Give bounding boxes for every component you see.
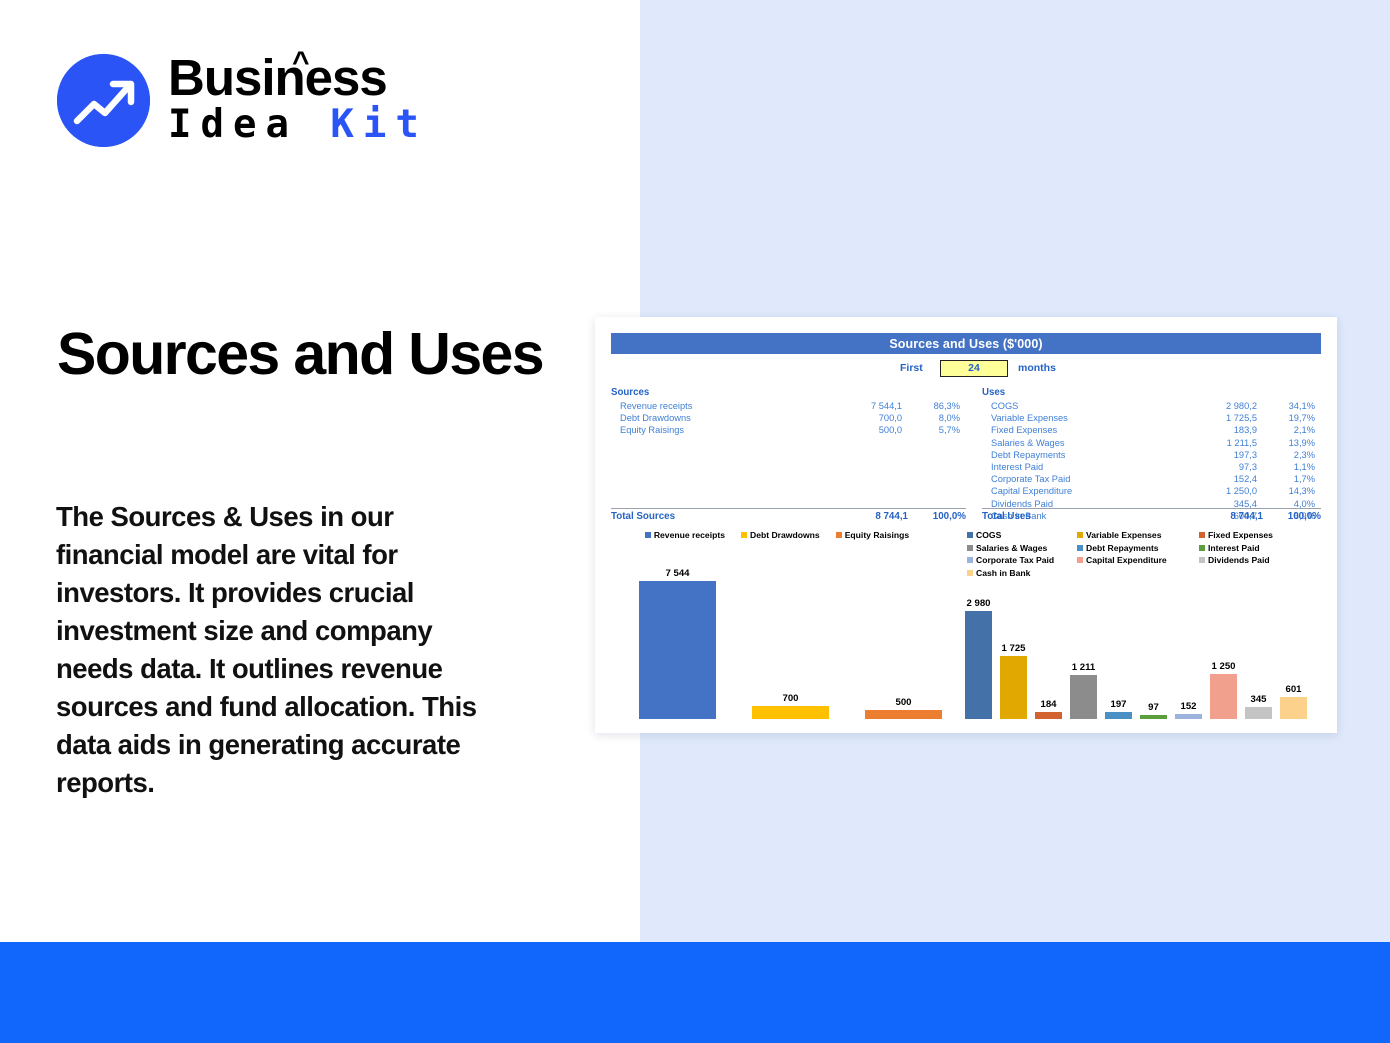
total-label: Total Uses — [982, 511, 1191, 522]
bar — [1210, 674, 1237, 719]
bar — [1105, 712, 1132, 719]
table-row: Debt Repayments 197,3 2,3% — [982, 449, 1315, 461]
uses-total-row: Total Uses 8 744,1 100,0% — [982, 508, 1321, 522]
total-percent: 100,0% — [1263, 511, 1321, 522]
bar-column: 700 — [752, 567, 829, 719]
bar-column: 1 211 — [1070, 567, 1097, 719]
months-input[interactable]: 24 — [940, 360, 1008, 377]
table-row: Fixed Expenses 183,9 2,1% — [982, 424, 1315, 436]
bar-value-label: 700 — [782, 693, 798, 704]
legend-swatch-icon — [1199, 557, 1205, 563]
growth-arrow-icon — [57, 54, 150, 147]
row-percent: 2,1% — [1257, 424, 1315, 436]
table-row: Variable Expenses 1 725,5 19,7% — [982, 412, 1315, 424]
table-row: Capital Expenditure 1 250,0 14,3% — [982, 485, 1315, 497]
legend-label: Revenue receipts — [654, 530, 725, 540]
row-percent: 8,0% — [902, 412, 960, 424]
brand-kit-text: Kit — [330, 102, 427, 147]
legend-label: Interest Paid — [1208, 543, 1260, 553]
row-amount: 197,3 — [1185, 449, 1257, 461]
legend-label: Capital Expenditure — [1086, 555, 1167, 565]
bar-column: 184 — [1035, 567, 1062, 719]
table-row: Interest Paid 97,3 1,1% — [982, 461, 1315, 473]
bar-value-label: 97 — [1148, 702, 1159, 713]
legend-swatch-icon — [1199, 545, 1205, 551]
row-amount: 2 980,2 — [1185, 400, 1257, 412]
table-row: Revenue receipts 7 544,1 86,3% — [611, 400, 960, 412]
bar — [752, 706, 829, 719]
row-amount: 1 250,0 — [1185, 485, 1257, 497]
legend-label: COGS — [976, 530, 1001, 540]
charts-area: Revenue receiptsDebt DrawdownsEquity Rai… — [611, 529, 1321, 719]
legend-swatch-icon — [1077, 545, 1083, 551]
uses-bar-chart: COGSVariable ExpensesFixed ExpensesSalar… — [959, 529, 1321, 719]
legend-swatch-icon — [967, 557, 973, 563]
bar-column: 601 — [1280, 567, 1307, 719]
brand-name-text: Business — [168, 49, 387, 106]
brand-logo: Business ^ Idea Kit — [57, 53, 428, 148]
row-amount: 500,0 — [830, 424, 902, 436]
row-amount: 1 211,5 — [1185, 437, 1257, 449]
legend-label: Corporate Tax Paid — [976, 555, 1054, 565]
legend-item: Revenue receipts — [645, 530, 725, 540]
total-amount: 8 744,1 — [836, 511, 908, 522]
bar-column: 197 — [1105, 567, 1132, 719]
bar-value-label: 184 — [1040, 699, 1056, 710]
row-label: Salaries & Wages — [982, 437, 1185, 449]
uses-table-header: Uses — [982, 387, 1315, 398]
brand-idea-text: Idea — [168, 102, 330, 147]
bar — [865, 710, 942, 719]
bar-value-label: 1 725 — [1001, 643, 1025, 654]
legend-item: Capital Expenditure — [1077, 555, 1199, 565]
slide-root: Business ^ Idea Kit Sources and Uses The… — [0, 0, 1390, 1043]
row-label: Equity Raisings — [611, 424, 830, 436]
period-suffix-label: months — [1018, 362, 1056, 374]
row-label: Debt Repayments — [982, 449, 1185, 461]
legend-swatch-icon — [1077, 532, 1083, 538]
tables-area: Sources Revenue receipts 7 544,1 86,3% D… — [611, 387, 1321, 522]
total-amount: 8 744,1 — [1191, 511, 1263, 522]
legend-item: Equity Raisings — [836, 530, 909, 540]
bar-value-label: 1 211 — [1072, 662, 1095, 673]
bar-value-label: 152 — [1180, 701, 1196, 712]
bar-column: 1 725 — [1000, 567, 1027, 719]
sources-table: Sources Revenue receipts 7 544,1 86,3% D… — [611, 387, 966, 522]
total-percent: 100,0% — [908, 511, 966, 522]
table-row: Salaries & Wages 1 211,5 13,9% — [982, 437, 1315, 449]
sources-and-uses-card: Sources and Uses ($'000) First 24 months… — [595, 317, 1337, 733]
brand-name-line2: Idea Kit — [168, 103, 428, 148]
bar-value-label: 345 — [1250, 694, 1266, 705]
row-percent: 34,1% — [1257, 400, 1315, 412]
sources-table-header: Sources — [611, 387, 960, 398]
row-percent: 13,9% — [1257, 437, 1315, 449]
bar — [1035, 712, 1062, 719]
legend-item: COGS — [967, 530, 1077, 540]
legend-item: Salaries & Wages — [967, 543, 1077, 553]
row-label: Capital Expenditure — [982, 485, 1185, 497]
row-label: COGS — [982, 400, 1185, 412]
row-amount: 700,0 — [830, 412, 902, 424]
legend-swatch-icon — [1199, 532, 1205, 538]
row-percent: 2,3% — [1257, 449, 1315, 461]
row-amount: 152,4 — [1185, 473, 1257, 485]
legend-label: Dividends Paid — [1208, 555, 1270, 565]
bar — [1245, 707, 1272, 720]
row-percent: 19,7% — [1257, 412, 1315, 424]
legend-item: Dividends Paid — [1199, 555, 1309, 565]
total-label: Total Sources — [611, 511, 836, 522]
legend-item: Interest Paid — [1199, 543, 1309, 553]
uses-table: Uses COGS 2 980,2 34,1% Variable Expense… — [966, 387, 1321, 522]
sources-chart-plot: 7 544700500 — [611, 567, 943, 719]
sources-total-row: Total Sources 8 744,1 100,0% — [611, 508, 966, 522]
uses-chart-plot: 2 9801 7251841 211197971521 250345601 — [959, 567, 1321, 719]
legend-label: Salaries & Wages — [976, 543, 1047, 553]
bar-column: 2 980 — [965, 567, 992, 719]
bar — [1140, 715, 1167, 719]
bar-value-label: 2 980 — [966, 598, 990, 609]
sheet-title-bar: Sources and Uses ($'000) — [611, 333, 1321, 354]
bar — [965, 611, 992, 719]
bar-value-label: 7 544 — [665, 568, 689, 579]
row-label: Corporate Tax Paid — [982, 473, 1185, 485]
row-label: Revenue receipts — [611, 400, 830, 412]
brand-name-line1: Business ^ — [168, 53, 428, 103]
legend-label: Debt Repayments — [1086, 543, 1159, 553]
table-row: Corporate Tax Paid 152,4 1,7% — [982, 473, 1315, 485]
row-amount: 7 544,1 — [830, 400, 902, 412]
bar-value-label: 197 — [1110, 699, 1126, 710]
table-row: Debt Drawdowns 700,0 8,0% — [611, 412, 960, 424]
table-row: COGS 2 980,2 34,1% — [982, 400, 1315, 412]
bar — [1070, 675, 1097, 719]
row-label: Variable Expenses — [982, 412, 1185, 424]
legend-swatch-icon — [645, 532, 651, 538]
legend-item: Fixed Expenses — [1199, 530, 1309, 540]
legend-swatch-icon — [967, 532, 973, 538]
row-amount: 97,3 — [1185, 461, 1257, 473]
legend-label: Fixed Expenses — [1208, 530, 1273, 540]
sources-bar-chart: Revenue receiptsDebt DrawdownsEquity Rai… — [611, 529, 943, 719]
bar — [639, 581, 716, 719]
bar-column: 500 — [865, 567, 942, 719]
bottom-accent-band — [0, 942, 1390, 1043]
row-percent: 1,1% — [1257, 461, 1315, 473]
bar-column: 152 — [1175, 567, 1202, 719]
bar-value-label: 601 — [1285, 684, 1301, 695]
legend-label: Variable Expenses — [1086, 530, 1161, 540]
circumflex-accent: ^ — [292, 48, 309, 77]
row-percent: 86,3% — [902, 400, 960, 412]
legend-swatch-icon — [1077, 557, 1083, 563]
description-paragraph: The Sources & Uses in our financial mode… — [56, 498, 506, 802]
bar-column: 97 — [1140, 567, 1167, 719]
sources-chart-legend: Revenue receiptsDebt DrawdownsEquity Rai… — [611, 529, 943, 540]
row-amount: 183,9 — [1185, 424, 1257, 436]
row-percent: 5,7% — [902, 424, 960, 436]
bar-column: 1 250 — [1210, 567, 1237, 719]
legend-item: Variable Expenses — [1077, 530, 1199, 540]
bar-value-label: 500 — [895, 697, 911, 708]
row-label: Interest Paid — [982, 461, 1185, 473]
bar — [1280, 697, 1307, 719]
legend-swatch-icon — [836, 532, 842, 538]
legend-item: Corporate Tax Paid — [967, 555, 1077, 565]
legend-label: Equity Raisings — [845, 530, 909, 540]
bar-value-label: 1 250 — [1211, 661, 1235, 672]
row-label: Fixed Expenses — [982, 424, 1185, 436]
row-percent: 1,7% — [1257, 473, 1315, 485]
period-prefix-label: First — [900, 362, 923, 374]
legend-item: Debt Repayments — [1077, 543, 1199, 553]
bar-column: 7 544 — [639, 567, 716, 719]
legend-swatch-icon — [741, 532, 747, 538]
legend-label: Debt Drawdowns — [750, 530, 820, 540]
bar — [1175, 714, 1202, 720]
bar-column: 345 — [1245, 567, 1272, 719]
period-selector-row: First 24 months — [611, 357, 1321, 379]
legend-item: Debt Drawdowns — [741, 530, 820, 540]
table-row: Equity Raisings 500,0 5,7% — [611, 424, 960, 436]
bar — [1000, 656, 1027, 719]
page-title: Sources and Uses — [57, 320, 577, 388]
legend-swatch-icon — [967, 545, 973, 551]
row-label: Debt Drawdowns — [611, 412, 830, 424]
row-amount: 1 725,5 — [1185, 412, 1257, 424]
row-percent: 14,3% — [1257, 485, 1315, 497]
